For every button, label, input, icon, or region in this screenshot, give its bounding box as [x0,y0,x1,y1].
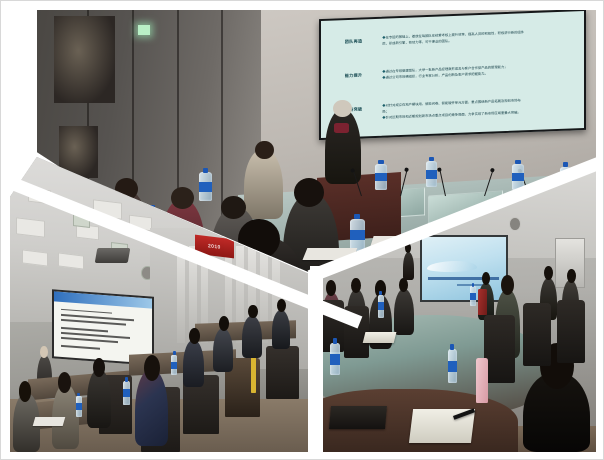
attendee-head [567,269,576,283]
collage-frame: 团队再造 ◆在专班的基础上，着放在每团队在经营考核上提升效率，提高人员的积极性，… [0,0,604,460]
document [33,417,65,426]
red-thermos [478,289,486,315]
water-bottle [350,219,365,251]
attendee [403,252,414,281]
ceiling-vent [73,212,90,228]
chair [266,346,299,399]
water-bottle [448,349,458,383]
chair [484,315,515,384]
slide-row: 能力提升 ◆通过在专班做建团队，大举一批新产品经理数形成及与客户合作型产品的管理… [329,62,576,82]
slide-text-line [61,319,126,325]
chair-stripe [251,352,256,393]
ceiling-light-panel [129,215,152,232]
attendee-head [255,141,274,160]
water-bottle [375,164,387,190]
notebook [329,406,387,429]
attendee-head [189,328,200,344]
pink-thermos [476,358,488,404]
attendee [244,149,283,219]
window-blind [177,246,185,343]
water-bottle [378,295,385,318]
attendee-head [277,299,286,312]
slide-row: 团队再造 ◆在专班的基础上，着放在每团队在经营考核上提升效率，提高人员的积极性，… [329,28,576,48]
slide-row-key: 能力提升 [329,70,378,79]
slide-row-key: 团队再造 [329,36,378,45]
water-bottle [470,286,476,306]
speaker-scarf [334,123,349,133]
green-indicator-light [138,25,150,35]
attendee [87,369,111,428]
collage-canvas: 团队再造 ◆在专班的基础上，着放在每团队在经营考核上提升效率，提高人员的积极性，… [10,10,596,452]
attendee-head [482,272,490,285]
slide-row-bullets: ◆在专班的基础上，着放在每团队在经营考核上提升效率，提高人员的积极性，积极进行新… [383,28,577,46]
attendee-head [219,316,229,331]
projection-screen [420,235,508,302]
slide-row: 市场突破 ◆对针对成立在地产模块用、智能问卷、智能硬件单元方面，重点围绕新产品拓… [329,96,576,122]
slide-row-bullets: ◆通过在专班做建团队，大举一批新产品经理数形成及与客户合作型产品的管理能力； ◆… [383,62,577,80]
slide-text-line [61,308,112,313]
slide-text-line [61,327,108,332]
water-bottle [76,396,83,417]
dark-window [54,16,115,103]
water-bottle [123,381,130,405]
chair [523,303,551,366]
document [362,332,396,343]
ceiling-light-panel [16,217,45,237]
attendee-head [501,275,514,295]
attendee-head [221,196,246,219]
attendee [394,289,414,335]
chair [557,300,585,363]
red-banner-text: 2010 [208,242,221,250]
slide-content: 团队再造 ◆在专班的基础上，着放在每团队在经营考核上提升效率，提高人员的积极性，… [329,16,576,134]
projection-screen: 团队再造 ◆在专班的基础上，着放在每团队在经营考核上提升效率，提高人员的积极性，… [319,10,586,141]
water-bottle [426,161,438,187]
water-bottle [330,343,340,374]
slide-text-line [61,345,100,349]
water-bottle [199,172,212,201]
slide-text-line [61,337,118,343]
attendee-head [58,372,71,393]
speaker [325,109,361,184]
attendee-head [248,305,258,319]
water-bottle [171,355,178,376]
attendee [183,340,204,387]
slide-wave-graphic [427,261,477,272]
attendee [242,316,261,357]
attendee-head [171,187,193,209]
ceiling-projector [95,248,130,263]
document [303,248,358,260]
ceiling-speaker [509,217,521,230]
slide-row-bullets: ◆对针对成立在地产模块用、智能问卷、智能硬件单元方面，重点围绕新产品拓展及规划市… [383,96,577,119]
presenter-head [40,346,48,358]
attendee [272,310,290,348]
water-bottle [512,164,524,190]
red-banner: 2010 [195,234,234,258]
